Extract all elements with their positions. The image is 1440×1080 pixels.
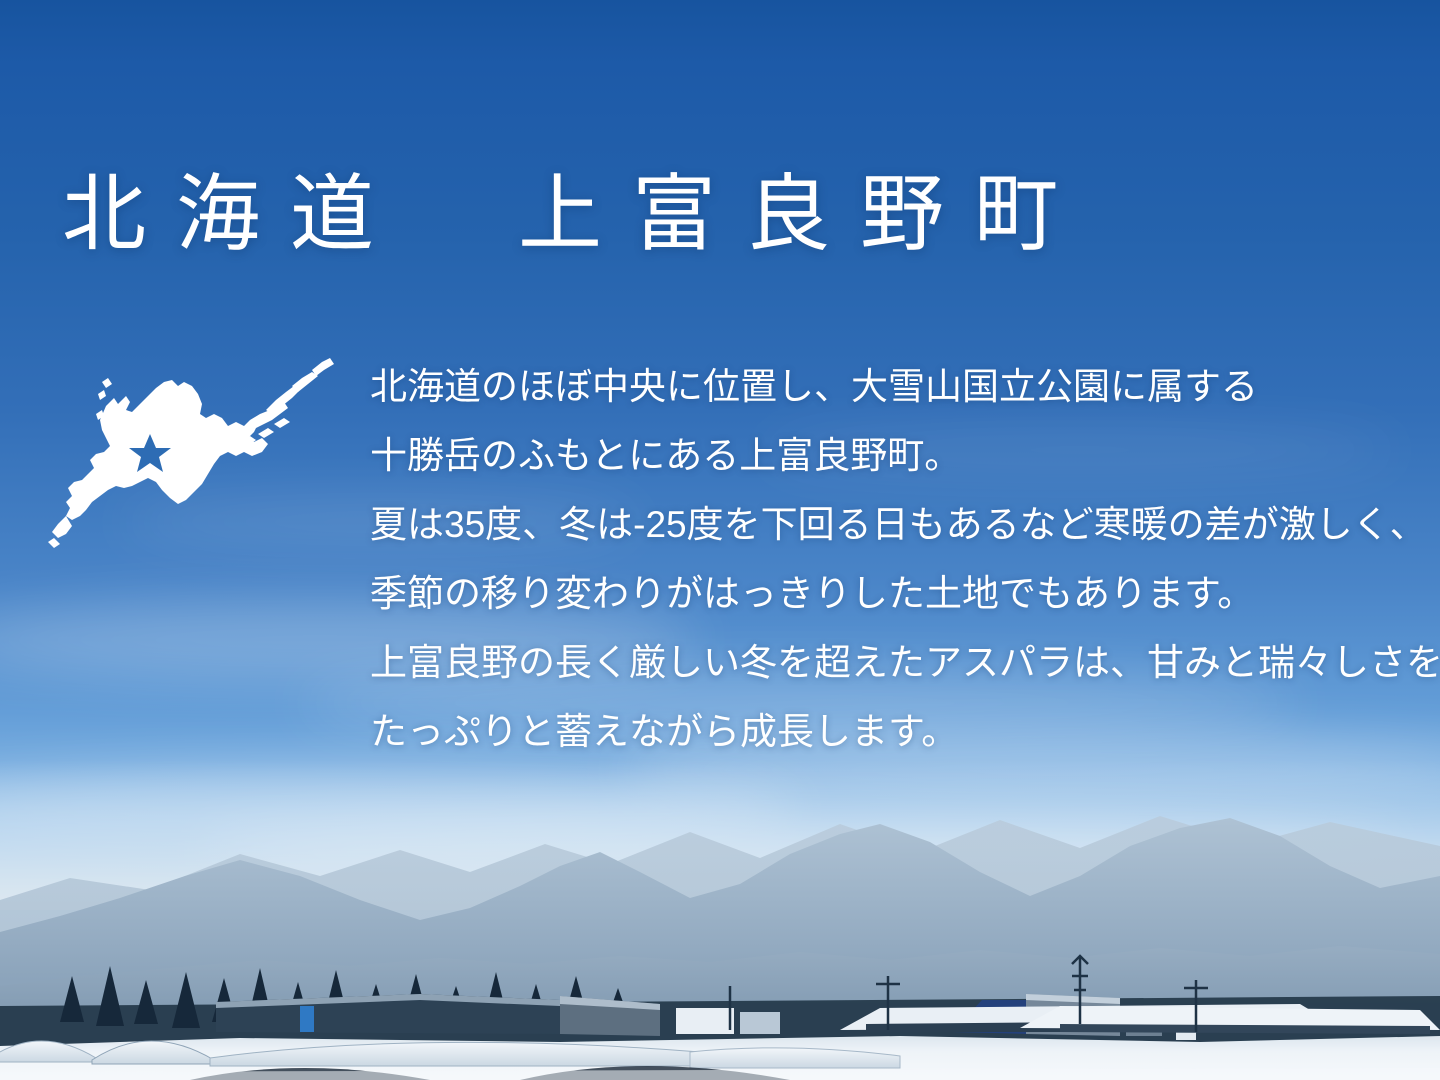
winter-landscape [0,780,1440,1080]
description-text: 北海道のほぼ中央に位置し、大雪山国立公園に属する 十勝岳のふもとにある上富良野町… [370,352,1430,766]
description-line: 上富良野の長く厳しい冬を超えたアスパラは、甘みと瑞々しさを [370,628,1430,697]
description-line: 季節の移り変わりがはっきりした土地でもあります。 [370,559,1430,628]
description-line: 十勝岳のふもとにある上富良野町。 [370,421,1430,490]
page-title: 北海道 上富良野町 [62,172,1088,256]
description-line: 夏は35度、冬は-25度を下回る日もあるなど寒暖の差が激しく、 [370,490,1430,559]
description-line: たっぷりと蓄えながら成長します。 [370,697,1430,766]
hero-banner: 北海道 上富良野町 [0,0,1440,1080]
hokkaido-map-icon [44,352,334,552]
description-line: 北海道のほぼ中央に位置し、大雪山国立公園に属する [370,352,1430,421]
